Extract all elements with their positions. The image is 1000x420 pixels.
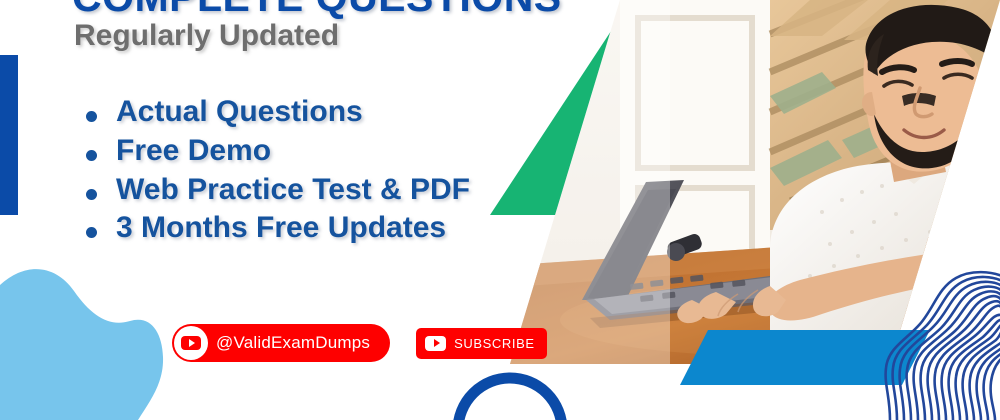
youtube-handle-label: @ValidExamDumps <box>216 333 370 353</box>
light-blue-wave-blob-icon <box>0 265 200 420</box>
left-blue-bar-icon <box>0 55 18 215</box>
list-item: Web Practice Test & PDF <box>82 174 470 206</box>
feature-label: Web Practice Test & PDF <box>116 173 470 206</box>
list-item: Free Demo <box>82 135 470 167</box>
blue-arc-ring-icon <box>410 368 610 420</box>
list-item: 3 Months Free Updates <box>82 212 470 244</box>
subscribe-button[interactable]: SUBSCRIBE <box>416 328 547 359</box>
youtube-play-icon <box>174 326 208 360</box>
wavy-lines-pattern-icon <box>880 268 1000 420</box>
list-item: Actual Questions <box>82 96 470 128</box>
feature-list: Actual Questions Free Demo Web Practice … <box>82 96 470 251</box>
subscribe-label: SUBSCRIBE <box>454 336 535 351</box>
page-subtitle: Regularly Updated <box>74 19 339 53</box>
feature-label: Free Demo <box>116 134 271 167</box>
youtube-handle-button[interactable]: @ValidExamDumps <box>172 324 390 362</box>
promo-banner: COMPLETE QUESTIONS Regularly Updated Act… <box>0 0 1000 420</box>
feature-label: Actual Questions <box>116 95 363 128</box>
youtube-play-icon <box>425 336 446 351</box>
youtube-badges: @ValidExamDumps SUBSCRIBE <box>172 324 547 362</box>
feature-label: 3 Months Free Updates <box>116 211 446 244</box>
page-title: COMPLETE QUESTIONS <box>72 0 562 21</box>
